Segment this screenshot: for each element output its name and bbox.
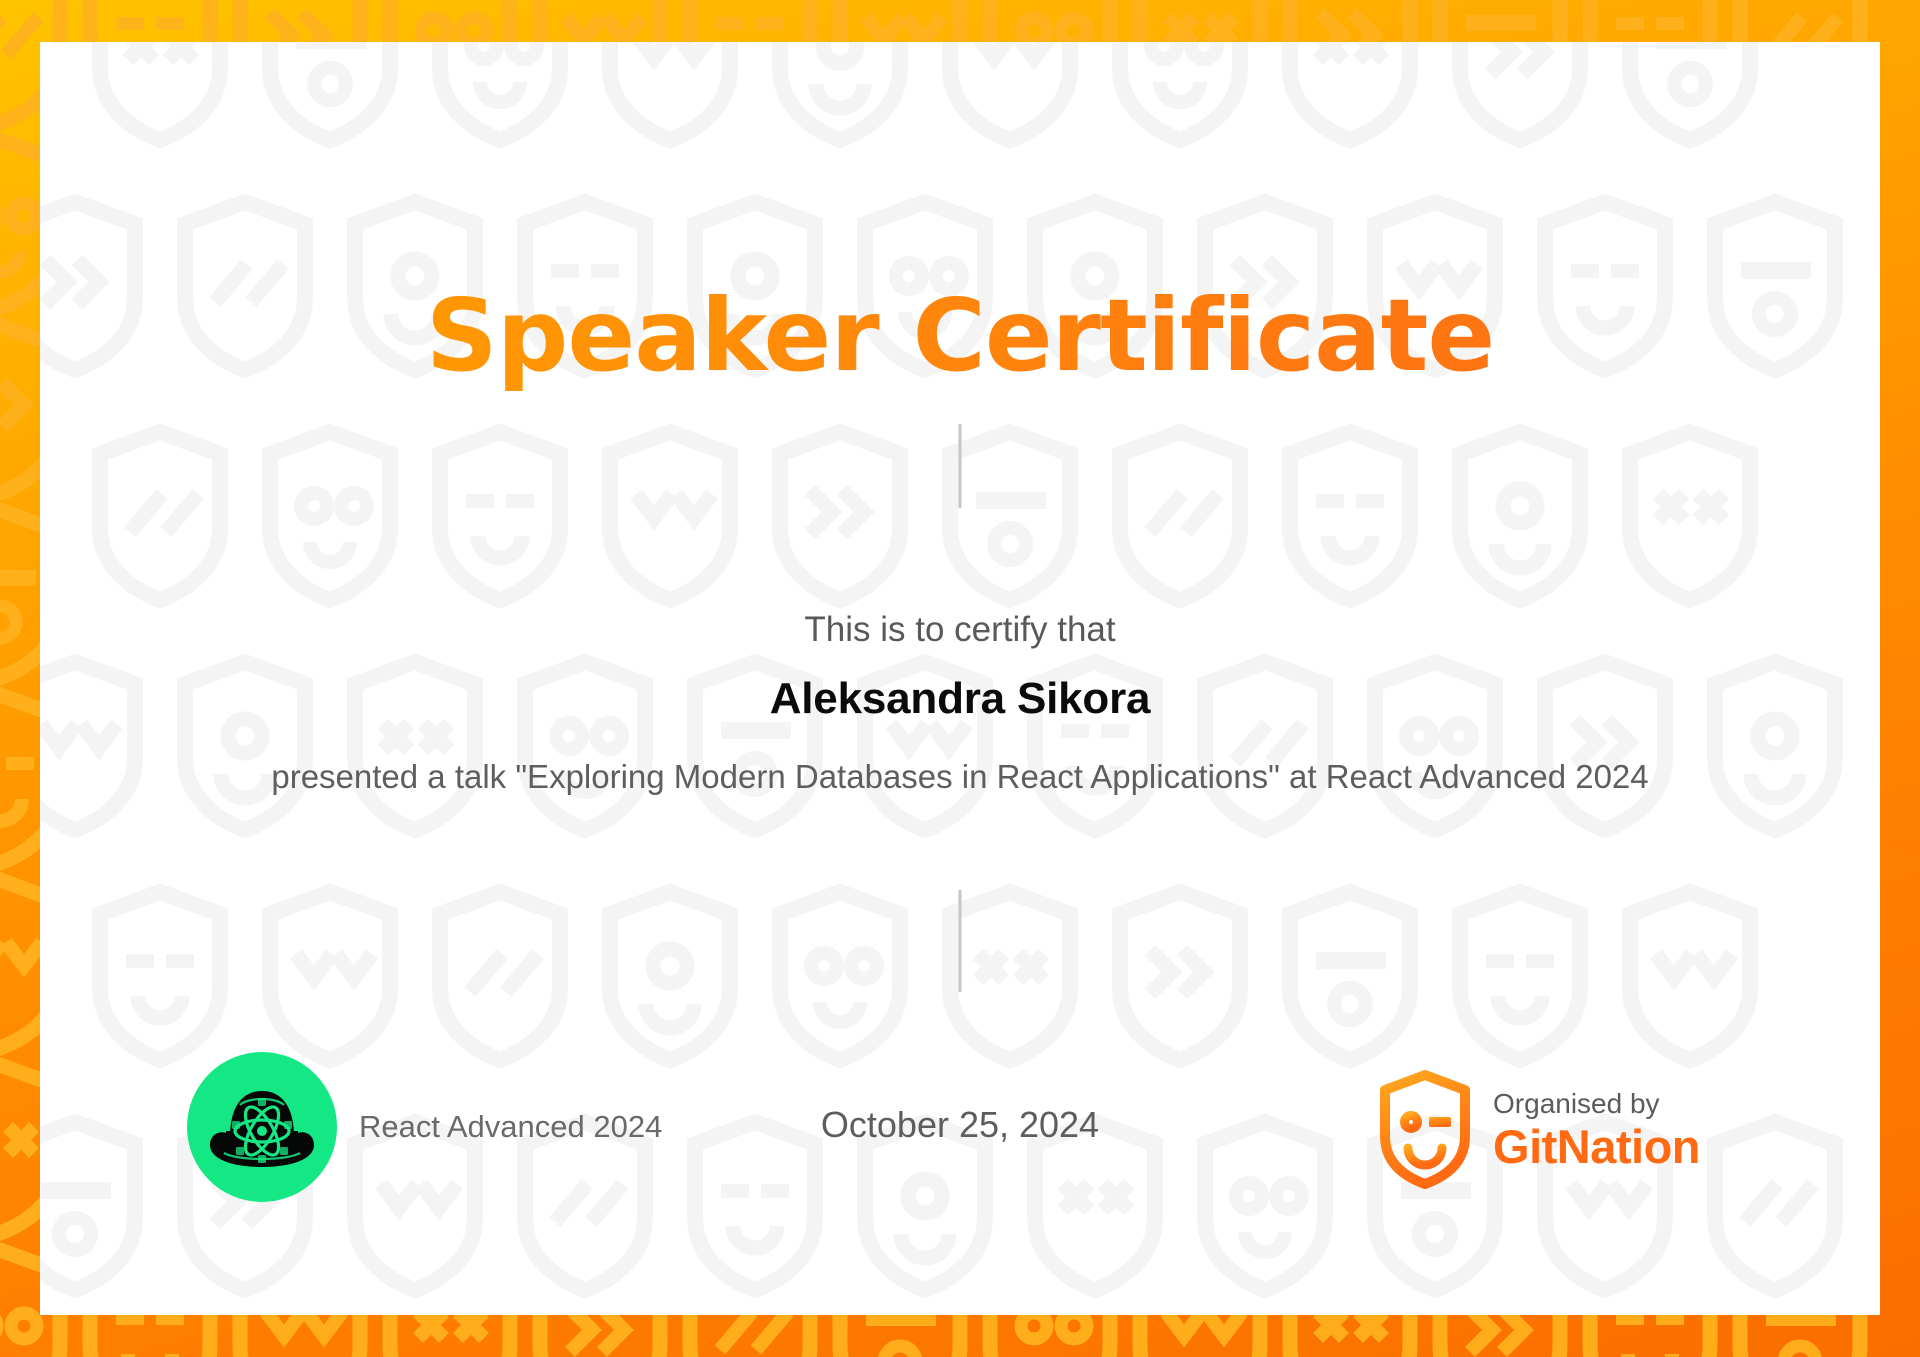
recipient-name: Aleksandra Sikora — [40, 674, 1880, 724]
organiser-text: Organised by GitNation — [1493, 1089, 1700, 1172]
gitnation-shield-face-icon — [1377, 1070, 1473, 1190]
certificate-footer: React Advanced 2024 October 25, 2024 — [40, 1052, 1880, 1232]
divider-top — [959, 424, 962, 508]
certificate-card: Speaker Certificate This is to certify t… — [40, 42, 1880, 1315]
certify-line: This is to certify that — [40, 610, 1880, 650]
certificate-title: Speaker Certificate — [40, 281, 1880, 391]
organiser-block: Organised by GitNation — [1377, 1070, 1700, 1190]
organised-by-label: Organised by — [1493, 1089, 1700, 1118]
divider-bottom — [959, 890, 962, 992]
certificate-page: Speaker Certificate This is to certify t… — [0, 0, 1920, 1357]
gitnation-wordmark: GitNation — [1493, 1122, 1700, 1171]
talk-description: presented a talk "Exploring Modern Datab… — [245, 754, 1675, 800]
